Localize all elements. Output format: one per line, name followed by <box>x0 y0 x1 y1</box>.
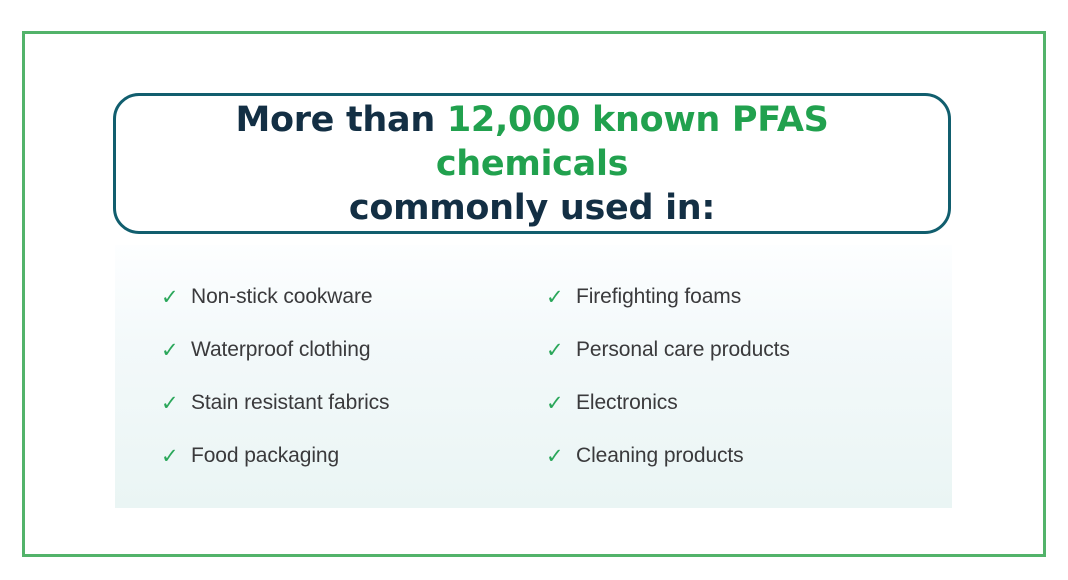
check-icon: ✓ <box>546 287 576 308</box>
list-item-label: Stain resistant fabrics <box>191 390 389 416</box>
check-icon: ✓ <box>546 393 576 414</box>
list-column-right: ✓ Firefighting foams ✓ Personal care pro… <box>546 271 946 483</box>
list-item: ✓ Personal care products <box>546 324 946 377</box>
list-item-label: Personal care products <box>576 337 790 363</box>
list-columns: ✓ Non-stick cookware ✓ Waterproof clothi… <box>115 271 952 483</box>
list-item-label: Electronics <box>576 390 678 416</box>
check-icon: ✓ <box>161 446 191 467</box>
check-icon: ✓ <box>161 340 191 361</box>
check-icon: ✓ <box>546 340 576 361</box>
list-item: ✓ Firefighting foams <box>546 271 946 324</box>
list-item-label: Food packaging <box>191 443 339 469</box>
list-item: ✓ Non-stick cookware <box>161 271 546 324</box>
headline-line-2: commonly used in: <box>349 188 715 228</box>
list-item: ✓ Food packaging <box>161 430 546 483</box>
usage-list-panel: ✓ Non-stick cookware ✓ Waterproof clothi… <box>115 245 952 508</box>
list-item-label: Cleaning products <box>576 443 744 469</box>
list-item: ✓ Cleaning products <box>546 430 946 483</box>
list-item-label: Firefighting foams <box>576 284 741 310</box>
headline-callout-box: More than 12,000 known PFAS chemicals co… <box>113 93 951 234</box>
check-icon: ✓ <box>161 393 191 414</box>
list-item: ✓ Waterproof clothing <box>161 324 546 377</box>
headline-accent: 12,000 known PFAS chemicals <box>436 100 829 184</box>
list-column-left: ✓ Non-stick cookware ✓ Waterproof clothi… <box>161 271 546 483</box>
list-item: ✓ Stain resistant fabrics <box>161 377 546 430</box>
list-item: ✓ Electronics <box>546 377 946 430</box>
check-icon: ✓ <box>546 446 576 467</box>
check-icon: ✓ <box>161 287 191 308</box>
page-title: More than 12,000 known PFAS chemicals co… <box>116 98 948 230</box>
list-item-label: Non-stick cookware <box>191 284 372 310</box>
headline-prefix: More than <box>235 100 446 140</box>
list-item-label: Waterproof clothing <box>191 337 370 363</box>
infographic-root: More than 12,000 known PFAS chemicals co… <box>0 0 1068 580</box>
